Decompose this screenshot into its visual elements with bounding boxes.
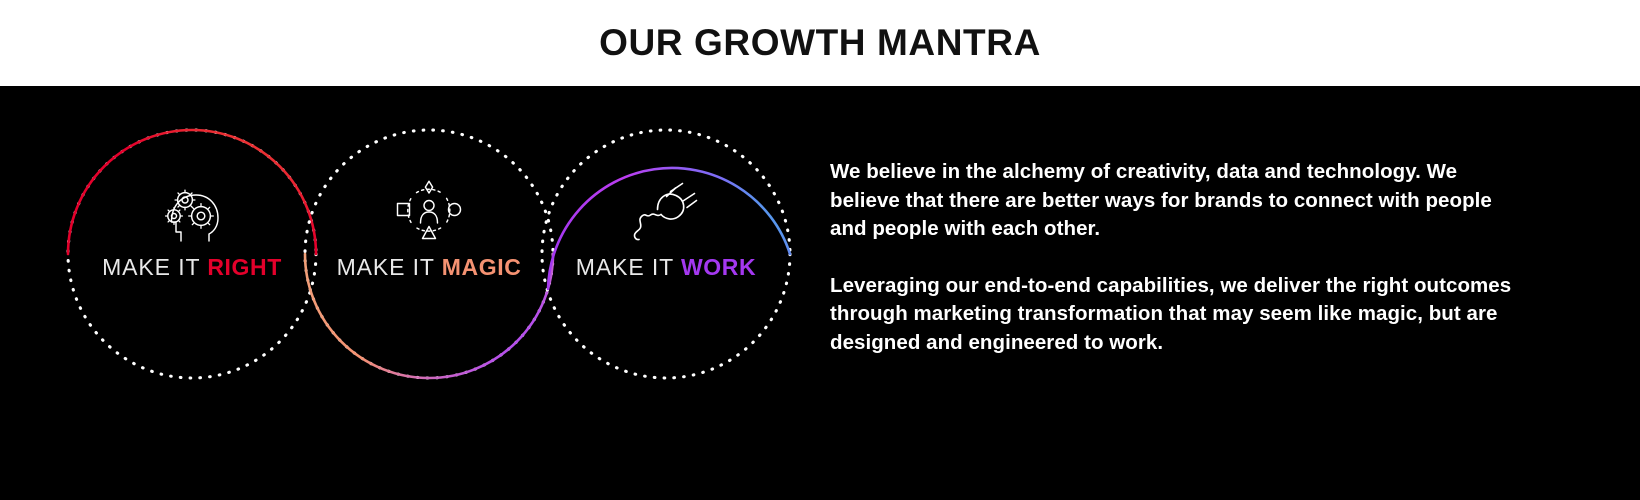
label-prefix: MAKE IT [337,254,442,280]
copy-paragraph-2: Leveraging our end-to-end capabilities, … [830,272,1530,358]
mantra-circles-group: MAKE IT RIGHT [0,86,820,500]
label-accent: RIGHT [207,254,282,280]
label-accent: MAGIC [442,254,522,280]
page-title: OUR GROWTH MANTRA [599,24,1041,61]
copy-paragraph-1: We believe in the alchemy of creativity,… [830,158,1530,244]
mantra-node-make-it-work[interactable]: MAKE IT WORK [540,128,792,380]
mantra-node-make-it-magic[interactable]: MAKE IT MAGIC [303,128,555,380]
mantra-copy-block: We believe in the alchemy of creativity,… [830,158,1530,357]
label-prefix: MAKE IT [576,254,681,280]
head-with-gears-icon [151,178,233,242]
person-in-orbit-icon [388,178,470,242]
mantra-label-make-it-work: MAKE IT WORK [540,254,792,281]
header-band: OUR GROWTH MANTRA [0,0,1640,86]
label-prefix: MAKE IT [102,254,207,280]
content-stage: MAKE IT RIGHT [0,86,1640,500]
label-accent: WORK [681,254,756,280]
power-plug-icon [625,178,707,242]
mantra-label-make-it-right: MAKE IT RIGHT [66,254,318,281]
mantra-label-make-it-magic: MAKE IT MAGIC [303,254,555,281]
mantra-node-make-it-right[interactable]: MAKE IT RIGHT [66,128,318,380]
